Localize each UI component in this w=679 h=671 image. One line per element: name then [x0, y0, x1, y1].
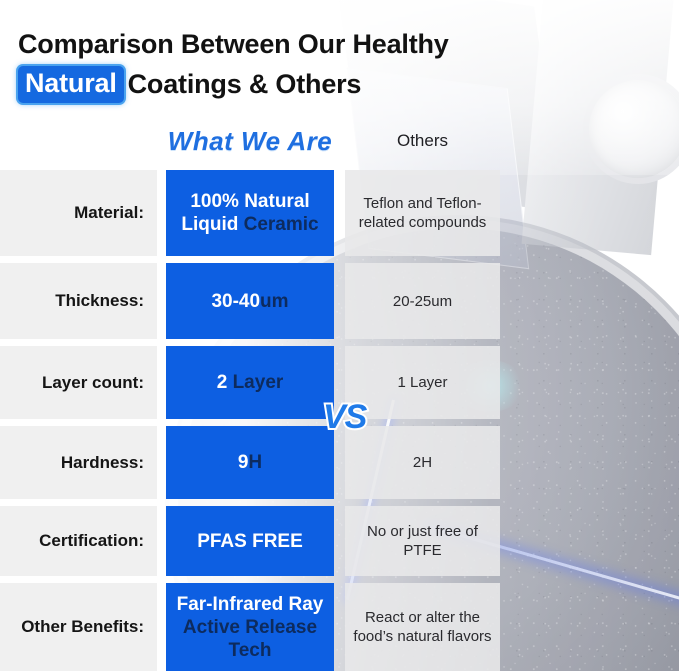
column-gap — [334, 506, 345, 576]
column-gap — [157, 170, 166, 256]
title-line-1: Comparison Between Our Healthy — [18, 28, 558, 61]
cell-ours-highlight: Far-Infrared Ray — [177, 594, 324, 615]
row-label: Other Benefits: — [0, 583, 157, 671]
column-headers: What We Are Others — [0, 125, 679, 161]
cell-ours: 30-40um — [166, 263, 334, 339]
row-label: Layer count: — [0, 346, 157, 419]
header-ours: What We Are — [166, 125, 334, 157]
cell-ours: 2 Layer — [166, 346, 334, 419]
title-line-2-rest: Coatings & Others — [128, 68, 362, 101]
row-label: Thickness: — [0, 263, 157, 339]
column-gap — [157, 346, 166, 419]
header-others: Others — [345, 125, 500, 157]
cell-ours-rest: um — [260, 291, 289, 312]
row-label: Certification: — [0, 506, 157, 576]
page-title: Comparison Between Our Healthy Natural C… — [18, 28, 558, 103]
cell-ours-highlight: 2 — [217, 372, 228, 393]
column-gap — [334, 426, 345, 499]
column-gap — [157, 263, 166, 339]
cell-others: 2H — [345, 426, 500, 499]
cell-ours: 100% Natural Liquid Ceramic — [166, 170, 334, 256]
cell-others: 20-25um — [345, 263, 500, 339]
comparison-infographic: Comparison Between Our Healthy Natural C… — [0, 0, 679, 671]
column-gap — [157, 506, 166, 576]
cell-others: React or alter the food’s natural flavor… — [345, 583, 500, 671]
cell-ours: PFAS FREE — [166, 506, 334, 576]
table-row: Material: 100% Natural Liquid Ceramic Te… — [0, 170, 679, 256]
table-row: Thickness: 30-40um 20-25um — [0, 263, 679, 339]
cell-ours: 9H — [166, 426, 334, 499]
row-label: Material: — [0, 170, 157, 256]
row-label: Hardness: — [0, 426, 157, 499]
cell-ours-rest: H — [248, 452, 262, 473]
column-gap — [334, 263, 345, 339]
cell-others: 1 Layer — [345, 346, 500, 419]
table-row: Hardness: 9H 2H — [0, 426, 679, 499]
column-gap — [157, 426, 166, 499]
title-line-2: Natural Coatings & Others — [18, 66, 558, 103]
cell-ours-rest: Ceramic — [244, 214, 319, 235]
cell-ours-highlight: PFAS FREE — [197, 531, 303, 552]
table-row: Certification: PFAS FREE No or just free… — [0, 506, 679, 576]
cell-ours-highlight: 9 — [238, 452, 249, 473]
column-gap — [157, 583, 166, 671]
cell-ours: Far-Infrared Ray Active Release Tech — [166, 583, 334, 671]
vs-badge: VS — [323, 400, 366, 434]
cell-others: Teflon and Teflon-related compounds — [345, 170, 500, 256]
natural-highlight-chip: Natural — [18, 66, 124, 103]
column-gap — [334, 170, 345, 256]
column-gap — [334, 583, 345, 671]
cell-ours-rest: Layer — [233, 372, 284, 393]
cell-ours-highlight: 30-40 — [211, 291, 260, 312]
cell-ours-rest: Active Release Tech — [183, 617, 317, 661]
cell-others: No or just free of PTFE — [345, 506, 500, 576]
table-row: Other Benefits: Far-Infrared Ray Active … — [0, 583, 679, 671]
